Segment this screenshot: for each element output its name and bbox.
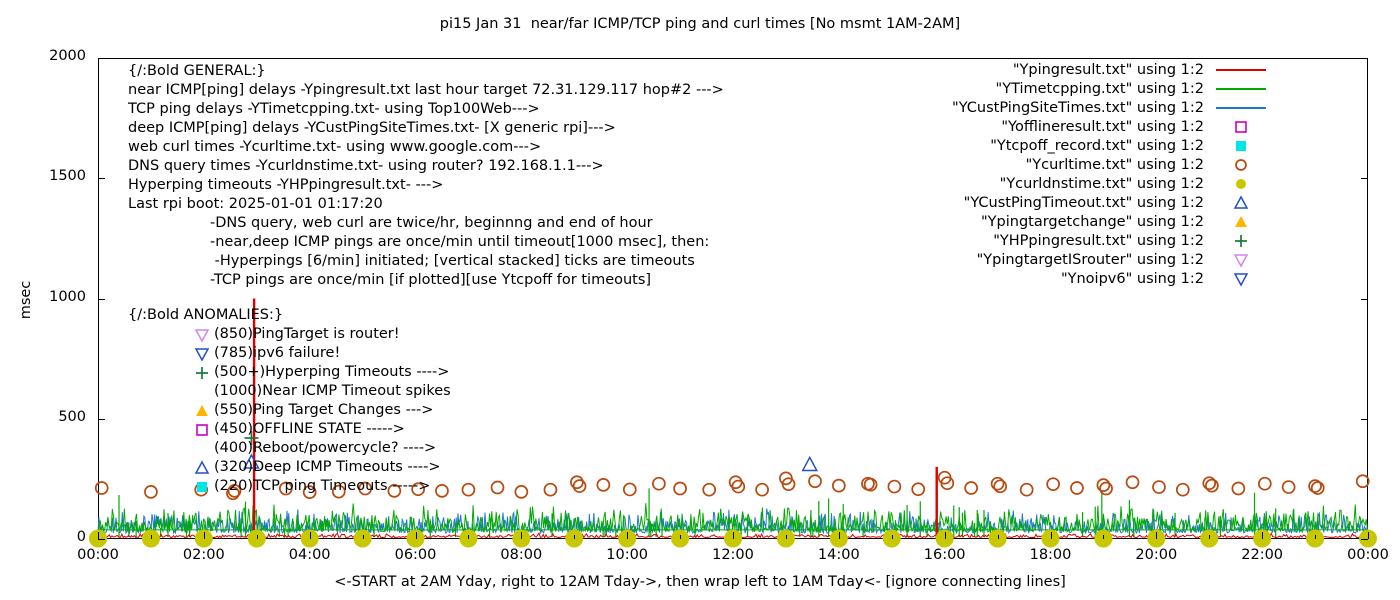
legend-label: "Ypingresult.txt" using 1:2 [940,62,1212,78]
legend-row: "YpingtargetISrouter" using 1:2 [940,250,1270,269]
x-minor-tick-mark [892,535,893,539]
x-tick-mark [521,532,522,539]
x-minor-tick-mark [574,535,575,539]
anomaly-row: (500+)Hyperping Timeouts ----> [128,363,451,382]
anomaly-label: (450)OFFLINE STATE -----> [214,421,405,437]
curltime-point [1127,476,1139,488]
legend-key-filled-square-icon [1212,136,1270,155]
legend-label: "YTimetcpping.txt" using 1:2 [940,81,1212,97]
general-heading: {/:Bold GENERAL:} [128,62,724,81]
x-axis-caption: <-START at 2AM Yday, right to 12AM Tday-… [0,574,1400,590]
general-indented-line: -near,deep ICMP pings are once/min until… [128,233,724,252]
legend: "Ypingresult.txt" using 1:2"YTimetcpping… [940,60,1270,288]
x-tick-label: 18:00 [1016,547,1086,563]
legend-label: "Ytcpoff_record.txt" using 1:2 [940,138,1212,154]
y-tick-label: 1000 [16,289,86,305]
legend-line-swatch [1216,107,1266,109]
legend-line-swatch [1216,88,1266,90]
legend-row: "YTimetcpping.txt" using 1:2 [940,79,1270,98]
curltime-point [1047,478,1059,490]
legend-label: "Ycurltime.txt" using 1:2 [940,157,1212,173]
anomaly-row: (450)OFFLINE STATE -----> [128,420,451,439]
curltime-point [1071,482,1083,494]
legend-row: "Ypingresult.txt" using 1:2 [940,60,1270,79]
general-line: web curl times -Ycurltime.txt- using www… [128,138,724,157]
x-minor-tick-mark [1209,535,1210,539]
anomaly-label: (1000)Near ICMP Timeout spikes [214,383,451,399]
x-tick-label: 00:00 [1333,547,1400,563]
anomaly-row: (320)Deep ICMP Timeouts ----> [128,458,451,477]
legend-key-open-triangle-up-icon [1212,193,1270,212]
curltime-point [1283,481,1295,493]
y-tick-mark-right [1361,178,1368,179]
curltime-point [1259,478,1271,490]
x-tick-mark [945,532,946,539]
anomaly-row: (850)PingTarget is router! [128,325,451,344]
x-tick-mark [204,532,205,539]
curltime-point [912,483,924,495]
legend-row: "Ycurldnstime.txt" using 1:2 [940,174,1270,193]
legend-row: "Yofflineresult.txt" using 1:2 [940,117,1270,136]
y-tick-mark [98,299,105,300]
x-tick-mark [416,532,417,539]
chart-page: pi15 Jan 31 near/far ICMP/TCP ping and c… [0,0,1400,600]
legend-key-filled-circle-icon [1212,174,1270,193]
x-tick-mark [627,532,628,539]
y-tick-label: 500 [16,409,86,425]
chart-title: pi15 Jan 31 near/far ICMP/TCP ping and c… [0,16,1400,32]
anomaly-label: (400)Reboot/powercycle? ----> [214,440,436,456]
curltime-point [544,484,556,496]
legend-row: "Ytcpoff_record.txt" using 1:2 [940,136,1270,155]
curltime-point [703,484,715,496]
x-minor-tick-mark [1315,535,1316,539]
y-tick-label: 0 [16,529,86,545]
curltime-point [571,476,583,488]
anomaly-row: (220)TCP ping Timeouts -----> [128,477,451,496]
legend-key-line-icon [1212,79,1270,98]
curltime-point [994,480,1006,492]
anomaly-label: (850)PingTarget is router! [214,326,400,342]
anomaly-filled-triangle-up-icon [194,403,210,419]
x-minor-tick-mark [468,535,469,539]
x-tick-mark [1051,532,1052,539]
general-indented-line: -Hyperpings [6/min] initiated; [vertical… [128,252,724,271]
legend-key-open-square-icon [1212,117,1270,136]
x-tick-mark [1156,532,1157,539]
x-tick-mark [98,532,99,539]
legend-label: "Ypingtargetchange" using 1:2 [940,214,1212,230]
anomaly-open-triangle-up-icon [194,460,210,476]
legend-row: "Ynoipv6" using 1:2 [940,269,1270,288]
general-indented-line: -TCP pings are once/min [if plotted][use… [128,271,724,290]
curltime-point [653,478,665,490]
curltime-point [462,484,474,496]
legend-key-line-icon [1212,98,1270,117]
legend-row: "Ycurltime.txt" using 1:2 [940,155,1270,174]
legend-key-filled-triangle-up-icon [1212,212,1270,231]
anomaly-plus-icon [194,365,210,381]
general-line: near ICMP[ping] delays -Ypingresult.txt … [128,81,724,100]
x-minor-tick-mark [363,535,364,539]
curltime-point [965,482,977,494]
x-tick-label: 22:00 [1227,547,1297,563]
x-minor-tick-mark [786,535,787,539]
legend-row: "YHPpingresult.txt" using 1:2 [940,231,1270,250]
curltime-point [732,481,744,493]
legend-row: "Ypingtargetchange" using 1:2 [940,212,1270,231]
legend-key-open-triangle-down-icon [1212,269,1270,288]
anomaly-row: (550)Ping Target Changes ---> [128,401,451,420]
x-tick-mark [1368,532,1369,539]
curltime-point [1153,481,1165,493]
curltime-point [1206,480,1218,492]
legend-key-open-circle-icon [1212,155,1270,174]
legend-label: "Ycurldnstime.txt" using 1:2 [940,176,1212,192]
x-tick-label: 16:00 [910,547,980,563]
anomaly-row: (1000)Near ICMP Timeout spikes [128,382,451,401]
curltime-point [574,480,586,492]
curltime-point [1177,484,1189,496]
x-tick-label: 00:00 [63,547,133,563]
anomalies-heading: {/:Bold ANOMALIES:} [128,306,451,325]
deep-icmp-timeout-marker [803,457,817,470]
x-tick-label: 04:00 [275,547,345,563]
x-tick-label: 12:00 [698,547,768,563]
anomaly-open-square-icon [194,422,210,438]
curltime-point [1097,479,1109,491]
x-tick-label: 02:00 [169,547,239,563]
anomaly-row: (400)Reboot/powercycle? ----> [128,439,451,458]
anomalies-text-block: {/:Bold ANOMALIES:}(850)PingTarget is ro… [128,306,451,496]
legend-key-open-triangle-down-icon [1212,250,1270,269]
x-tick-label: 08:00 [486,547,556,563]
curltime-point [597,479,609,491]
x-minor-tick-mark [257,535,258,539]
y-tick-mark-right [1361,58,1368,59]
x-minor-tick-mark [998,535,999,539]
x-tick-mark [733,532,734,539]
x-tick-label: 06:00 [381,547,451,563]
y-tick-mark [98,539,105,540]
legend-label: "YpingtargetISrouter" using 1:2 [940,252,1212,268]
anomaly-label: (550)Ping Target Changes ---> [214,402,433,418]
anomaly-label: (500+)Hyperping Timeouts ----> [214,364,449,380]
curltime-point [833,480,845,492]
x-minor-tick-mark [1103,535,1104,539]
curltime-point [756,484,768,496]
curltime-point [1100,482,1112,494]
anomaly-label: (320)Deep ICMP Timeouts ----> [214,459,441,475]
legend-key-plus-icon [1212,231,1270,250]
general-indented-line: -DNS query, web curl are twice/hr, begin… [128,214,724,233]
curltime-point [809,475,821,487]
curltime-point [1021,484,1033,496]
y-tick-mark [98,178,105,179]
legend-label: "Yofflineresult.txt" using 1:2 [940,119,1212,135]
anomaly-open-triangle-down-icon [194,327,210,343]
legend-label: "YCustPingTimeout.txt" using 1:2 [940,195,1212,211]
y-tick-mark [98,419,105,420]
x-minor-tick-mark [151,535,152,539]
anomaly-row: (785)ipv6 failure! [128,344,451,363]
curltime-point [674,482,686,494]
x-tick-mark [839,532,840,539]
general-line: deep ICMP[ping] delays -YCustPingSiteTim… [128,119,724,138]
x-tick-label: 14:00 [804,547,874,563]
general-line: DNS query times -Ycurldnstime.txt- using… [128,157,724,176]
x-tick-label: 10:00 [592,547,662,563]
x-tick-mark [310,532,311,539]
y-tick-label: 2000 [16,48,86,64]
general-text-block: {/:Bold GENERAL:}near ICMP[ping] delays … [128,62,724,290]
x-tick-label: 20:00 [1121,547,1191,563]
anomaly-label: (220)TCP ping Timeouts -----> [214,478,430,494]
curltime-point [515,486,527,498]
general-line: Hyperping timeouts -YHPpingresult.txt- -… [128,176,724,195]
anomaly-filled-square-icon [194,479,210,495]
y-tick-mark-right [1361,419,1368,420]
general-line: TCP ping delays -YTimetcpping.txt- using… [128,100,724,119]
anomaly-label: (785)ipv6 failure! [214,345,340,361]
x-minor-tick-mark [680,535,681,539]
curltime-point [1232,482,1244,494]
anomaly-open-triangle-down-icon [194,346,210,362]
curltime-point [1357,475,1369,487]
x-tick-mark [1262,532,1263,539]
curltime-point [992,478,1004,490]
legend-key-line-icon [1212,60,1270,79]
curltime-point [888,481,900,493]
legend-label: "YHPpingresult.txt" using 1:2 [940,233,1212,249]
y-tick-label: 1500 [16,168,86,184]
y-tick-mark-right [1361,539,1368,540]
legend-row: "YCustPingTimeout.txt" using 1:2 [940,193,1270,212]
legend-label: "Ynoipv6" using 1:2 [940,271,1212,287]
curltime-point [96,482,108,494]
curltime-point [492,482,504,494]
legend-row: "YCustPingSiteTimes.txt" using 1:2 [940,98,1270,117]
y-tick-mark [98,58,105,59]
curltime-point [624,483,636,495]
general-line: Last rpi boot: 2025-01-01 01:17:20 [128,195,724,214]
y-tick-mark-right [1361,299,1368,300]
legend-label: "YCustPingSiteTimes.txt" using 1:2 [940,100,1212,116]
legend-line-swatch [1216,69,1266,71]
